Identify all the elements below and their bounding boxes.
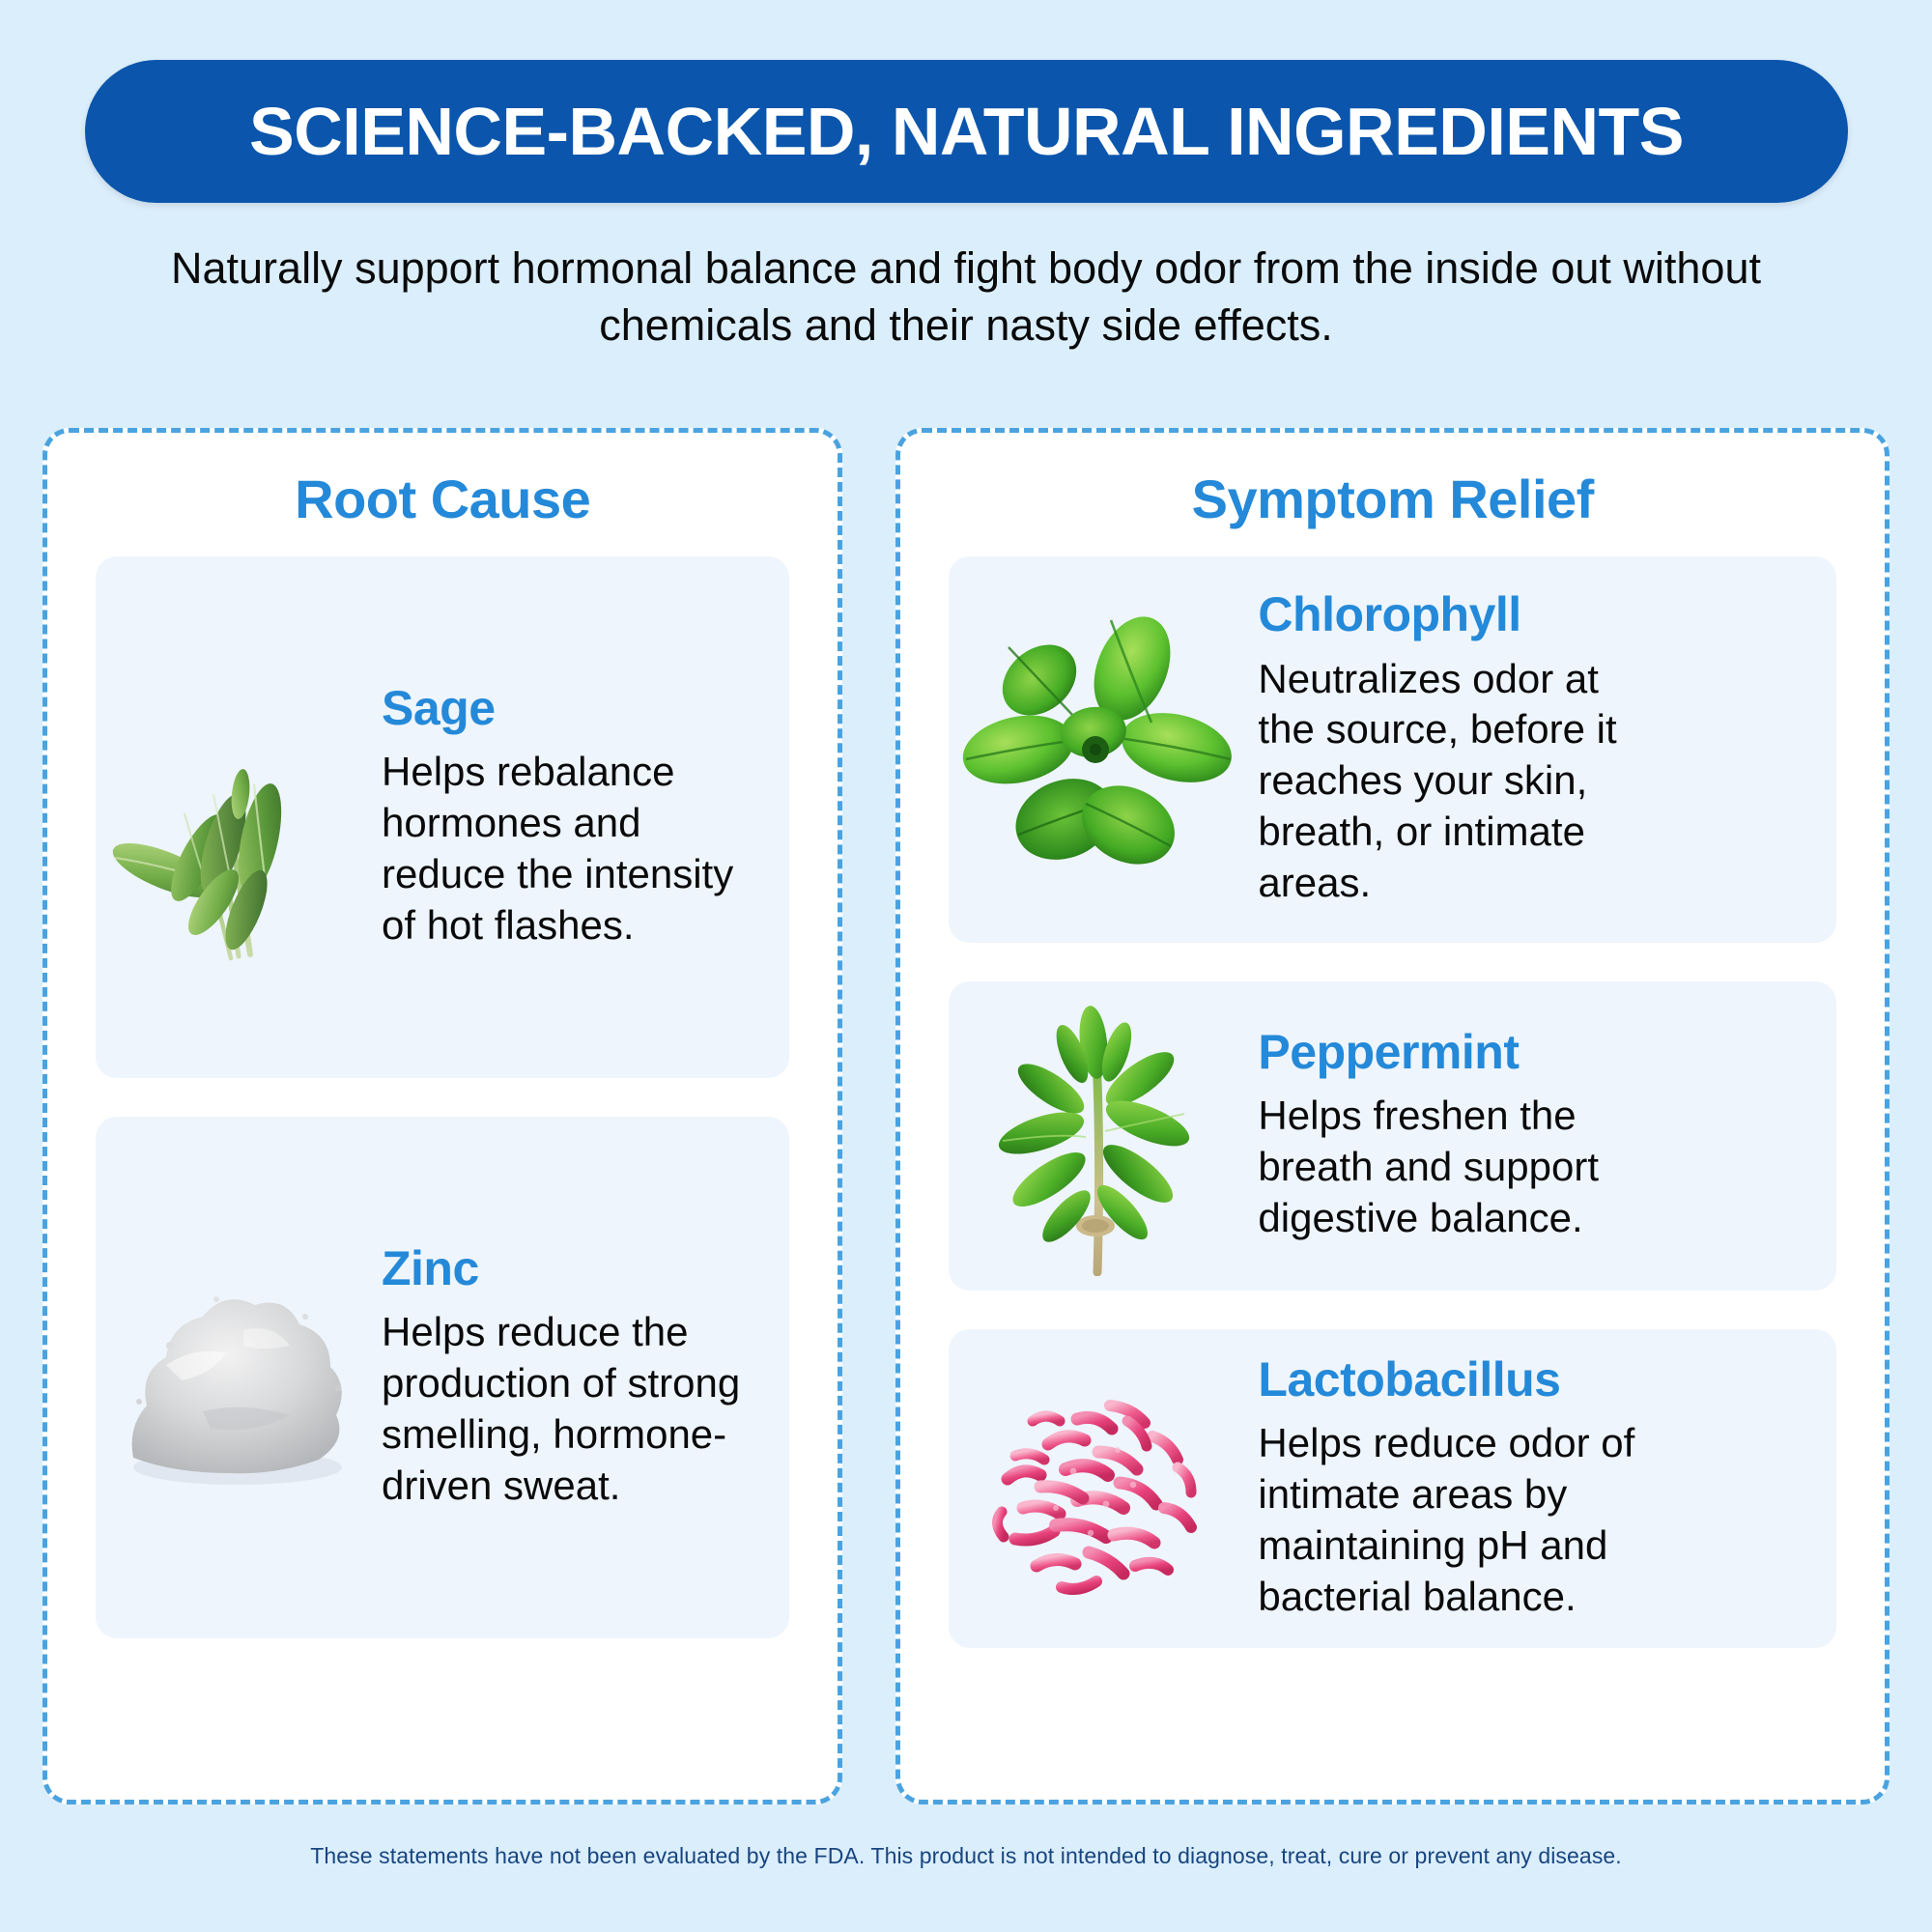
sage-media bbox=[96, 672, 376, 962]
page-title: SCIENCE-BACKED, NATURAL INGREDIENTS bbox=[249, 98, 1684, 165]
ingredient-card-lactobacillus[interactable]: Lactobacillus Helps reduce odor of intim… bbox=[949, 1329, 1836, 1648]
lactobacillus-body: Lactobacillus Helps reduce odor of intim… bbox=[1248, 1354, 1836, 1623]
ingredient-card-chlorophyll[interactable]: Chlorophyll Neutralizes odor at the sour… bbox=[949, 556, 1836, 943]
chlorophyll-body: Chlorophyll Neutralizes odor at the sour… bbox=[1248, 589, 1836, 909]
ingredient-description-chlorophyll: Neutralizes odor at the source, before i… bbox=[1258, 654, 1644, 910]
zinc-body: Zinc Helps reduce the production of stro… bbox=[376, 1243, 789, 1512]
ingredient-name-chlorophyll: Chlorophyll bbox=[1258, 589, 1798, 640]
card-list-root-cause: Sage Helps rebalance hormones and reduce… bbox=[47, 556, 838, 1679]
ingredient-card-sage[interactable]: Sage Helps rebalance hormones and reduce… bbox=[96, 556, 789, 1078]
ingredient-name-sage: Sage bbox=[382, 683, 751, 734]
ingredient-name-zinc: Zinc bbox=[382, 1243, 751, 1294]
fda-disclaimer: These statements have not been evaluated… bbox=[0, 1843, 1932, 1869]
chlorophyll-media bbox=[949, 605, 1248, 895]
mint-sprig-icon bbox=[958, 605, 1238, 895]
panel-title-symptom-relief: Symptom Relief bbox=[900, 469, 1885, 529]
infographic-page: SCIENCE-BACKED, NATURAL INGREDIENTS Natu… bbox=[0, 0, 1932, 1932]
page-subtitle: Naturally support hormonal balance and f… bbox=[164, 240, 1768, 355]
ingredient-name-peppermint: Peppermint bbox=[1258, 1027, 1798, 1078]
card-list-symptom-relief: Chlorophyll Neutralizes odor at the sour… bbox=[900, 556, 1885, 1689]
panel-root-cause: Root Cause bbox=[43, 428, 842, 1804]
zinc-powder-icon bbox=[110, 1257, 361, 1498]
panels-container: Root Cause bbox=[43, 428, 1889, 1804]
ingredient-description-zinc: Helps reduce the production of strong sm… bbox=[382, 1307, 751, 1512]
ingredient-name-lactobacillus: Lactobacillus bbox=[1258, 1354, 1798, 1406]
lactobacillus-media bbox=[949, 1363, 1248, 1614]
ingredient-card-peppermint[interactable]: Peppermint Helps freshen the breath and … bbox=[949, 981, 1836, 1291]
ingredient-description-sage: Helps rebalance hormones and reduce the … bbox=[382, 747, 751, 952]
sage-leaves-icon bbox=[105, 672, 366, 962]
sage-body: Sage Helps rebalance hormones and reduce… bbox=[376, 683, 789, 952]
ingredient-description-peppermint: Helps freshen the breath and support dig… bbox=[1258, 1091, 1644, 1244]
header-banner: SCIENCE-BACKED, NATURAL INGREDIENTS bbox=[85, 60, 1848, 203]
peppermint-media bbox=[949, 996, 1248, 1276]
ingredient-description-lactobacillus: Helps reduce odor of intimate areas by m… bbox=[1258, 1418, 1644, 1623]
lactobacillus-bacteria-icon bbox=[973, 1363, 1224, 1614]
zinc-media bbox=[96, 1257, 376, 1498]
panel-symptom-relief: Symptom Relief bbox=[895, 428, 1889, 1804]
peppermint-body: Peppermint Helps freshen the breath and … bbox=[1248, 1027, 1836, 1244]
ingredient-card-zinc[interactable]: Zinc Helps reduce the production of stro… bbox=[96, 1117, 789, 1638]
peppermint-stem-icon bbox=[978, 996, 1219, 1276]
panel-title-root-cause: Root Cause bbox=[47, 469, 838, 529]
